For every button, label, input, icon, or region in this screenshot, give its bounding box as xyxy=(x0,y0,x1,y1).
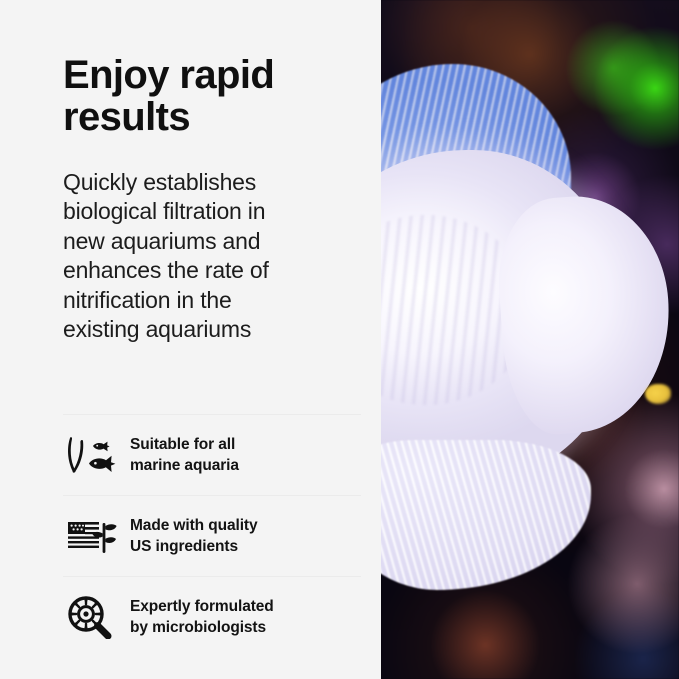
feature-label: Expertly formulated by microbiologists xyxy=(130,596,274,638)
fish-snout-tip xyxy=(645,384,671,404)
seaweed-fish-icon xyxy=(64,429,120,481)
product-photo xyxy=(381,0,679,679)
microbe-magnifier-icon xyxy=(64,591,120,643)
page-title: Enjoy rapid results xyxy=(63,54,353,139)
feature-label: Made with quality US ingredients xyxy=(130,515,257,557)
left-text-panel: Enjoy rapid results Quickly establishes … xyxy=(0,0,381,679)
left-panel-content: Enjoy rapid results Quickly establishes … xyxy=(63,0,363,679)
feature-label: Suitable for all marine aquaria xyxy=(130,434,239,476)
feature-item-marine-aquaria: Suitable for all marine aquaria xyxy=(63,415,363,495)
feature-item-microbiologists: Expertly formulated by microbiologists xyxy=(63,577,363,657)
feature-list: Suitable for all marine aquaria xyxy=(63,414,363,657)
us-flag-plant-icon xyxy=(64,510,120,562)
description-text: Quickly establishes biological filtratio… xyxy=(63,168,313,345)
feature-item-us-ingredients: Made with quality US ingredients xyxy=(63,496,363,576)
product-feature-panel: Enjoy rapid results Quickly establishes … xyxy=(0,0,679,679)
